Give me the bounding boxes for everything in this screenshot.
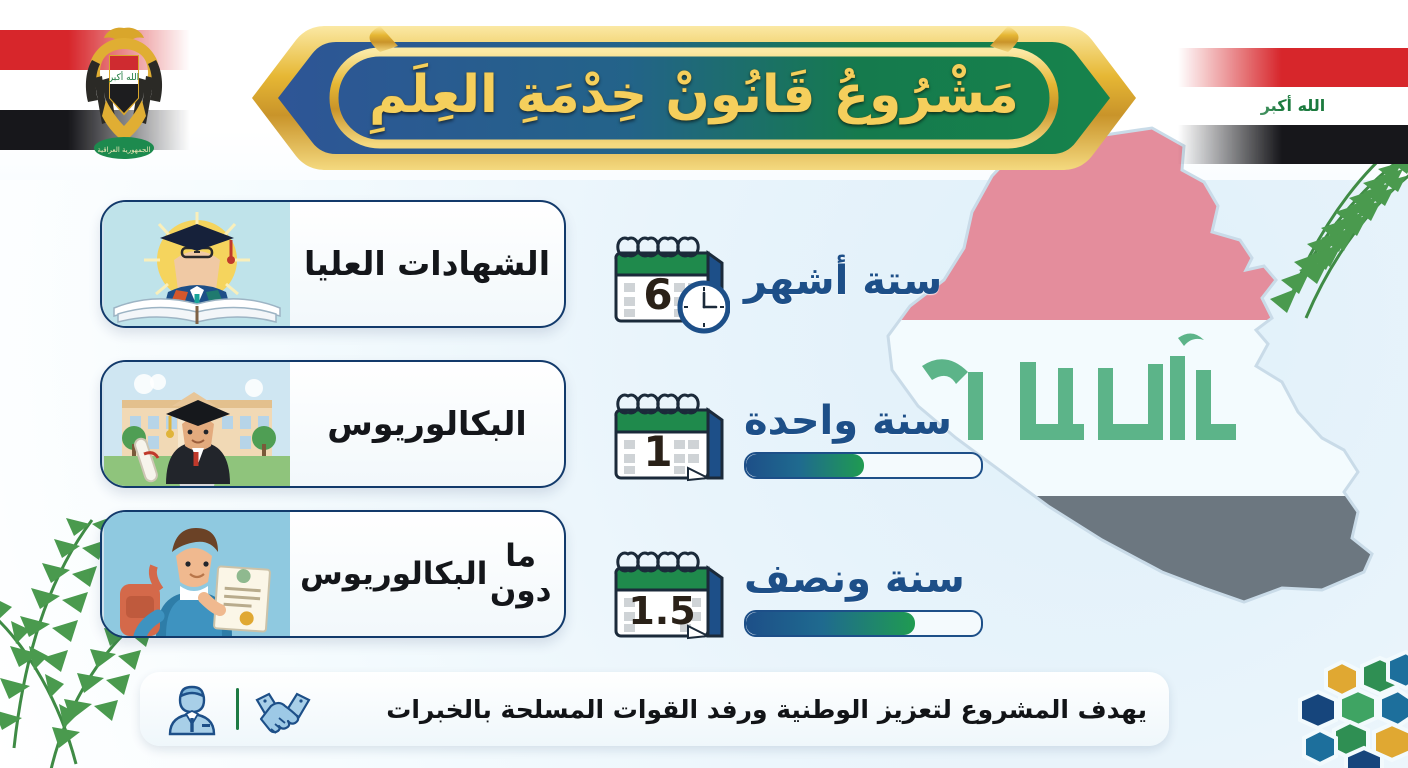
footer-divider bbox=[236, 688, 239, 730]
infographic-root: الله أكبر الجمهورية العراقية الله أكبر bbox=[0, 0, 1408, 768]
card-below-bachelor[interactable]: ما دون البكالوريوس bbox=[100, 510, 566, 638]
progress-fill bbox=[746, 612, 915, 635]
handshake-icon bbox=[253, 682, 313, 736]
card-label: البكالوريوس bbox=[290, 362, 564, 486]
footer-text: يهدف المشروع لتعزيز الوطنية ورفد القوات … bbox=[327, 695, 1147, 724]
progress-fill bbox=[746, 454, 864, 477]
card-bachelor[interactable]: البكالوريوس bbox=[100, 360, 566, 488]
card-higher-degrees[interactable]: الشهادات العليا bbox=[100, 200, 566, 328]
calendar-value: 1 bbox=[643, 427, 672, 476]
bachelor-graduate-illustration bbox=[102, 362, 290, 486]
title-plaque: مَشْرُوعُ قَانُونْ خِدْمَةِ العِلَمِ bbox=[238, 22, 1150, 174]
student-with-certificate-illustration bbox=[102, 512, 290, 636]
duration-row-year-and-half: 1.5 سنة ونصف bbox=[600, 540, 983, 652]
duration-progress-bar bbox=[744, 610, 983, 637]
duration-text: ستة أشهر bbox=[744, 258, 942, 304]
calendar-icon: 1 bbox=[600, 382, 730, 494]
svg-text:الله أكبر: الله أكبر bbox=[108, 71, 139, 83]
card-label: ما دون البكالوريوس bbox=[290, 512, 564, 636]
card-label-line1: ما دون bbox=[487, 539, 554, 608]
duration-row-six-months: 6 ستة أشهر bbox=[600, 225, 942, 337]
graduate-with-book-illustration bbox=[102, 202, 290, 326]
duration-text: سنة واحدة bbox=[744, 398, 952, 444]
duration-progress-bar bbox=[744, 452, 983, 479]
footer-banner: يهدف المشروع لتعزيز الوطنية ورفد القوات … bbox=[140, 672, 1169, 746]
calendar-value: 1.5 bbox=[628, 589, 695, 633]
svg-text:الجمهورية العراقية: الجمهورية العراقية bbox=[97, 146, 150, 154]
eagle-of-saladin-emblem: الله أكبر الجمهورية العراقية bbox=[72, 20, 176, 160]
calendar-icon: 6 bbox=[600, 225, 730, 337]
iraq-flag-right: الله أكبر bbox=[1178, 48, 1408, 164]
officer-person-icon bbox=[162, 682, 222, 736]
page-title: مَشْرُوعُ قَانُونْ خِدْمَةِ العِلَمِ bbox=[238, 22, 1150, 174]
duration-row-one-year: 1 سنة واحدة bbox=[600, 382, 983, 494]
calendar-value: 6 bbox=[643, 270, 672, 319]
duration-text: سنة ونصف bbox=[744, 556, 965, 602]
calendar-icon: 1.5 bbox=[600, 540, 730, 652]
islamic-mosaic-pattern bbox=[1238, 636, 1408, 768]
palm-frond-top-right-icon bbox=[1188, 140, 1408, 340]
card-label-line2: البكالوريوس bbox=[300, 557, 487, 592]
flag-takbir-text: الله أكبر bbox=[1178, 87, 1408, 126]
card-label: الشهادات العليا bbox=[290, 202, 564, 326]
